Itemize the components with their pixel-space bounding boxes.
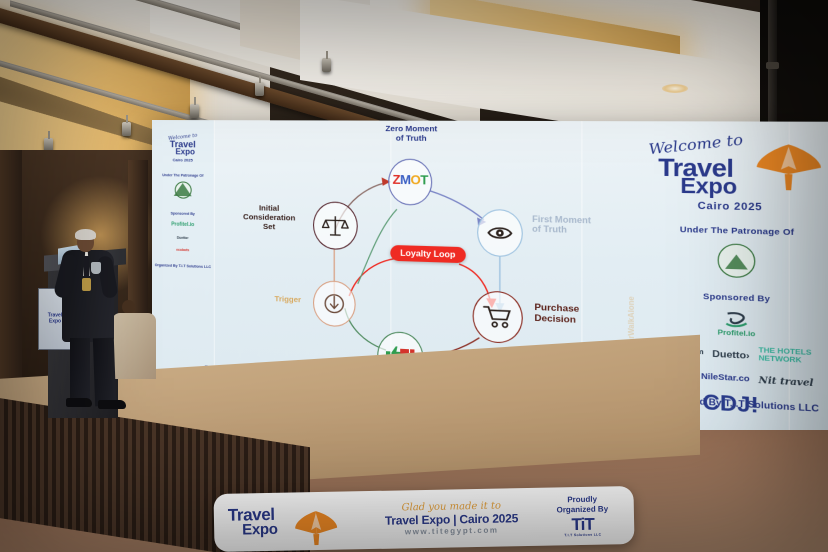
tit-solutions-subtext: T.I.T Solutions LLC: [539, 532, 626, 538]
banner-proudly-text: Proudly Organized By: [539, 494, 626, 514]
tit-solutions-logo: TiT: [539, 515, 626, 534]
ceiling-downlight: [662, 84, 688, 93]
scales-icon: [321, 214, 349, 238]
spotlight-fixture: [122, 122, 131, 136]
wall-column: [0, 150, 22, 400]
spotlight-fixture: [255, 82, 264, 96]
speaker-tie: [84, 256, 89, 278]
speaker-water-glass: [91, 262, 101, 274]
sponsor-logo-nit-travel: Nit travel: [759, 374, 814, 388]
node-label-purchase-decision: Purchase Decision: [534, 301, 634, 327]
podium-travel-expo-logo: TravelExpo: [48, 314, 62, 325]
mini-expo-text: Expo: [152, 148, 214, 156]
audience-body: [112, 313, 156, 379]
egyptian-hotel-association-icon: [718, 243, 756, 278]
node-label-initial-consideration-set: Initial Consideration Set: [228, 204, 311, 233]
node-label-zmot: Zero Moment of Truth: [364, 125, 459, 144]
event-floor-banner: Travel Expo Glad you made it to Travel E…: [213, 486, 634, 552]
refresh-arrow-icon: [321, 292, 347, 316]
spotlight-fixture: [322, 58, 331, 72]
banner-logo-block: Travel Expo: [214, 505, 365, 537]
mini-sponsored-title: Sponsored By: [152, 211, 214, 216]
shopping-cart-icon: [483, 305, 513, 330]
patronage-title: Under The Patronage Of: [636, 223, 828, 238]
speaker-leg: [93, 338, 116, 407]
mini-edition-text: Cairo 2025: [152, 157, 214, 163]
loyalty-loop-badge: Loyalty Loop: [390, 245, 465, 263]
travel-expo-tent-icon: [755, 140, 822, 196]
eye-icon: [486, 224, 513, 242]
sponsor-logo-duetto: Duetto›: [712, 348, 749, 361]
mini-sponsor-logo: ecobots: [152, 247, 214, 253]
zmot-wordmark-icon: ZMOT: [393, 172, 428, 187]
node-label-first-moment-of-truth: First Moment of Truth: [532, 214, 639, 237]
egyptian-hotel-association-icon: [174, 181, 191, 198]
truss-clamp: [766, 62, 779, 69]
profitel-logo-icon: [723, 310, 751, 329]
edition-text: Cairo 2025: [698, 200, 763, 213]
speaker-leg: [70, 338, 90, 404]
expo-text: Expo: [680, 177, 736, 198]
sponsor-logo-the-hotels-network: THE HOTELS NETWORK: [759, 348, 813, 366]
banner-organizer-block: Proudly Organized By TiT T.I.T Solutions…: [539, 494, 635, 537]
speaker-shoe: [66, 398, 92, 407]
spotlight-fixture: [190, 104, 199, 118]
sponsor-logo-nilestar: NileStar.co: [701, 371, 750, 384]
speaker-lanyard-badge: [82, 278, 91, 291]
banner-message-block: Glad you made it to Travel Expo | Cairo …: [364, 500, 540, 537]
mini-sponsor-logo: Profitel.io: [152, 221, 214, 229]
speaker-hair: [75, 229, 96, 240]
audience-head: [122, 300, 135, 314]
speaker-shoe: [98, 400, 126, 409]
banner-tent-icon: [294, 508, 339, 549]
mini-sponsor-logo: Duetto›: [152, 235, 214, 241]
sponsored-title: Sponsored By: [636, 289, 828, 307]
audience-member: [112, 300, 160, 380]
mini-patronage-title: Under The Patronage Of: [152, 173, 214, 178]
conference-photo-scene: Welcome to Travel Expo Cairo 2025 Under …: [0, 0, 828, 552]
mini-organized-by: Organized By T.I.T Solutions LLC: [152, 263, 214, 269]
